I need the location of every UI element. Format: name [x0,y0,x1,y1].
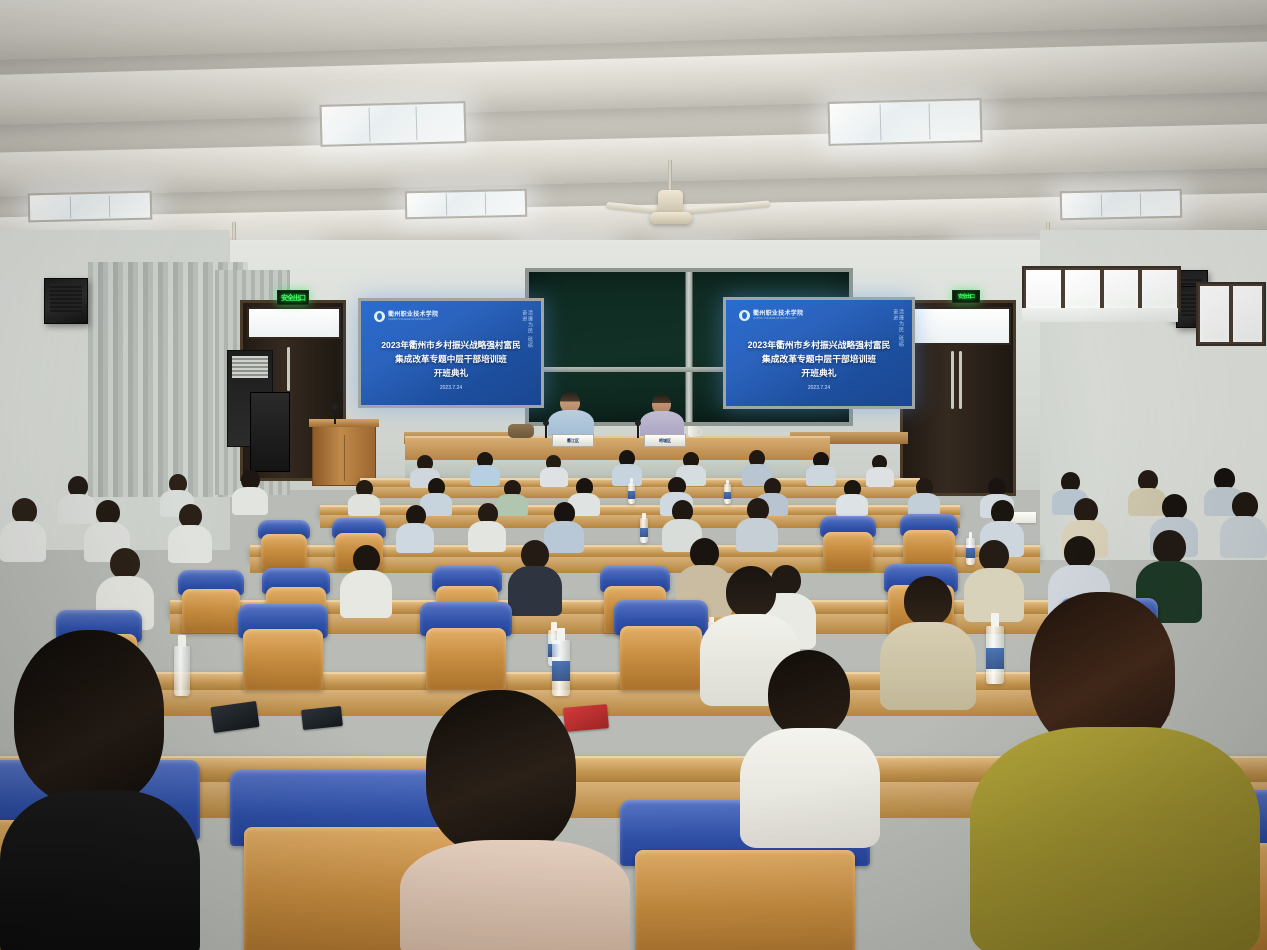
window-sill-right [1022,308,1178,322]
attendee [168,504,212,560]
podium [312,424,376,486]
exit-sign-label: 安全出口 [958,293,974,300]
attendee [508,540,562,614]
attendee-foreground-center [400,690,630,950]
ceiling-panel-light [405,189,528,220]
seat[interactable] [178,570,244,632]
exit-sign-label: 安全出口 [281,293,305,303]
slide-title-line1: 2023年衢州市乡村振兴战略强村富民 [361,339,541,351]
projection-screen-right: 衢州职业技术学院 QUZHOU COLLEGE OF TECHNOLOGY 清廉… [723,297,915,409]
window-right [1196,282,1266,346]
attendee [540,455,568,483]
lecture-hall-photo: 安全出口 安全出口 衢州职业技术学院 QUZHOU COLLEGE OF TEC… [0,0,1267,950]
attendee-foreground-left [0,630,200,950]
bag-on-table [508,424,534,438]
seat[interactable] [820,516,876,568]
attendee [396,505,434,549]
seat[interactable] [420,602,512,688]
water-bottle [724,484,731,504]
ceiling-panel-light [28,191,153,223]
ceiling-fan [640,160,760,230]
slide-title-line1: 2023年衢州市乡村振兴战略强村富民 [726,339,912,352]
slide-title-line3: 开班典礼 [361,367,541,379]
attendee [908,478,940,512]
slide-title-line2: 集成改革专题中层干部培训班 [361,353,541,365]
attendee-seated-row6 [740,650,880,830]
smartphone[interactable] [301,706,343,730]
slide-date: 2023.7.24 [361,385,541,391]
equipment-rack [250,392,290,472]
tea-cup [688,426,698,437]
ceiling-panel-light [827,98,982,146]
attendee [0,498,46,560]
seat[interactable] [614,600,708,688]
nameplate-right: 柯城区 [644,434,686,447]
attendee [348,480,380,512]
attendee [866,455,894,483]
nameplate-left: 衢江区 [552,434,594,447]
projection-screen-left: 衢州职业技术学院 QUZHOU COLLEGE OF TECHNOLOGY 清廉… [358,298,544,408]
window-transom-right [1022,266,1181,312]
microphone [637,424,639,438]
seat[interactable] [258,520,310,568]
water-bottle [552,640,570,696]
exit-sign: 安全出口 [277,290,309,305]
attendee [806,452,836,482]
wall-speaker [44,278,88,324]
school-name-en: QUZHOU COLLEGE OF TECHNOLOGY [753,318,803,320]
speaker-person-left [548,392,594,440]
slide-title-line3: 开班典礼 [726,367,912,380]
attendee-foreground-right [970,592,1260,950]
water-bottle [640,518,648,543]
school-logo-icon [739,310,750,321]
school-name-cn: 衢州职业技术学院 [753,311,803,317]
attendee [880,576,976,700]
school-name-en: QUZHOU COLLEGE OF TECHNOLOGY [388,319,438,321]
slide-title-line2: 集成改革专题中层干部培训班 [726,353,912,366]
school-name-cn: 衢州职业技术学院 [388,312,438,318]
attendee [736,498,778,550]
attendee [232,470,268,512]
slide-date: 2023.7.24 [726,385,912,391]
attendee [1220,492,1267,554]
school-logo-icon [374,311,385,322]
door-right[interactable] [900,300,1016,496]
attendee [340,545,392,615]
attendee [836,480,868,512]
water-bottle [628,483,635,504]
seat[interactable] [900,514,958,568]
ceiling-panel-light [319,101,466,147]
attendee [612,450,642,482]
attendee [470,452,500,482]
microphone [545,424,547,438]
exit-sign: 安全出口 [952,290,980,303]
smartphone[interactable] [210,701,259,733]
seat[interactable] [238,604,328,688]
ceiling-panel-light [1060,189,1183,221]
attendee [468,503,506,549]
microphone [334,408,336,424]
